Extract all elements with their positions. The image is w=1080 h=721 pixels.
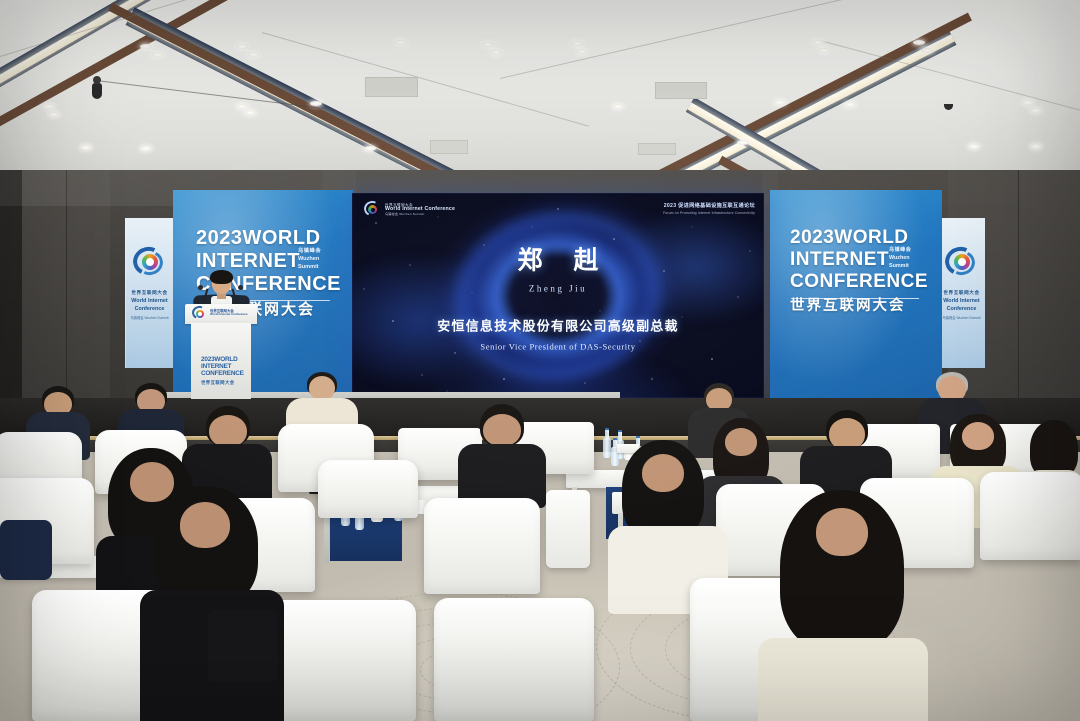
ceiling-air-vent [430, 140, 468, 154]
armchair [434, 598, 594, 721]
podium-cn: 世界互联网大会 [201, 380, 241, 386]
attendee-head [816, 508, 868, 556]
attendee-head [483, 414, 521, 446]
ceiling-downlight [571, 41, 583, 46]
banner-right-line2: INTERNET [790, 250, 928, 269]
ceiling-downlight [43, 104, 55, 109]
ceiling-downlight [395, 40, 407, 45]
podium-logo-en: World Internet Conference [210, 313, 248, 317]
ceiling-downlight [140, 146, 152, 151]
attendee [608, 440, 728, 596]
armchair [424, 498, 540, 594]
ceiling-downlight [576, 49, 588, 54]
podium-logo-text: 世界互联网大会 World Internet Conference [210, 309, 248, 317]
ceiling-downlight [612, 104, 624, 109]
wall-seam [1018, 170, 1019, 420]
speaker-title-en: Senior Vice President of DAS-Security [352, 341, 764, 351]
ceiling-downlight [482, 42, 494, 47]
screen-wic-logo: 世界互联网大会 World Internet Conference 乌镇峰会 W… [364, 201, 455, 218]
banner-right-cn: 世界互联网大会 [790, 299, 928, 315]
ceiling [0, 0, 1080, 196]
podium-line3: CONFERENCE [201, 371, 241, 378]
vertical-banner-right-en2: Conference [938, 306, 985, 313]
microphone-head [198, 285, 203, 290]
wic-logo-icon [364, 201, 381, 218]
ceiling-air-vent [638, 143, 676, 155]
armchair [980, 472, 1080, 560]
ceiling-downlight [737, 140, 749, 145]
screen-logo-cn: 世界互联网大会 [385, 203, 455, 207]
banner-left-line1: 2023WORLD [196, 228, 341, 248]
speaker-name-en: Zheng Jiu [352, 283, 764, 293]
speaker-hair [210, 270, 233, 284]
ceiling-camera [92, 83, 102, 99]
armchair-armrest [546, 490, 590, 568]
ceiling-downlight [236, 104, 248, 109]
podium-branding: 2023WORLD INTERNET CONFERENCE 世界互联网大会 [201, 357, 241, 386]
ceiling-downlight [844, 102, 856, 107]
attendee-head [209, 415, 247, 447]
ceiling-downlight [968, 144, 980, 149]
ceiling-beam-right-inner-brown [469, 12, 972, 196]
ceiling-downlight [152, 52, 164, 57]
attendee [758, 490, 928, 721]
speaker-name-cn: 郑 赳 [352, 240, 764, 276]
ceiling-downlight [364, 146, 376, 151]
vertical-banner-right-en1: World Internet [938, 298, 985, 305]
ceiling-downlight [1030, 108, 1042, 113]
ceiling-downlight [921, 48, 933, 53]
wic-logo-icon [133, 246, 167, 278]
ceiling-light-strip-left-inner [125, 7, 633, 196]
podium-body: 2023WORLD INTERNET CONFERENCE 世界互联网大会 [191, 323, 251, 399]
ceiling-downlight [236, 44, 248, 49]
ceiling-downlight [818, 48, 830, 53]
ceiling-downlight [812, 40, 824, 45]
ceiling-downlight [140, 44, 152, 49]
screen-logo-sub: 乌镇峰会 Wuzhen Summit [385, 213, 455, 216]
ceiling-downlight [80, 145, 92, 150]
ceiling-downlight [913, 40, 925, 45]
attendee-head [725, 428, 757, 456]
vertical-banner-left-cn: 世界互联网大会 [126, 290, 173, 296]
banner-right-line1: 2023WORLD [790, 228, 928, 247]
screen-forum-title-cn: 2023 促进网络基础设施互联互通论坛 [663, 202, 755, 209]
vertical-banner-right-cn: 世界互联网大会 [938, 290, 985, 296]
ceiling-downlight [248, 52, 260, 57]
led-presentation-screen: 世界互联网大会 World Internet Conference 乌镇峰会 W… [352, 193, 764, 398]
ceiling-dome-camera [944, 104, 953, 110]
attendee-torso [758, 638, 928, 721]
backpack [0, 520, 52, 580]
screen-speaker-card: 郑 赳 Zheng Jiu 安恒信息技术股份有限公司高级副总裁 Senior V… [352, 240, 764, 351]
handbag [208, 610, 278, 682]
vertical-banner-left: 世界互联网大会 World Internet Conference 乌镇峰会 W… [125, 218, 173, 368]
banner-right-line3: CONFERENCE [790, 272, 928, 291]
attendee [140, 486, 284, 721]
banner-left-line2: INTERNET [196, 251, 341, 271]
podium: 世界互联网大会 World Internet Conference 2023WO… [185, 304, 257, 399]
speaker-title-cn: 安恒信息技术股份有限公司高级副总裁 [352, 315, 764, 334]
ceiling-downlight [244, 110, 256, 115]
vertical-banner-left-en2: Conference [126, 306, 173, 313]
screen-forum-title-en: Forum on Promoting Internet Infrastructu… [663, 211, 755, 215]
ceiling-downlight [310, 101, 322, 106]
vertical-banner-left-en1: World Internet [126, 298, 173, 305]
ceiling-downlight [490, 50, 502, 55]
wic-logo-icon [192, 306, 207, 321]
ceiling-downlight [1030, 144, 1042, 149]
banner-right: 2023WORLD INTERNET CONFERENCE 世界互联网大会 乌镇… [770, 190, 942, 412]
ceiling-downlight [774, 100, 786, 105]
attendee [458, 404, 546, 500]
banner-right-text: 2023WORLD INTERNET CONFERENCE 世界互联网大会 [790, 228, 928, 315]
vertical-banner-right: 世界互联网大会 World Internet Conference 乌镇峰会 W… [937, 218, 985, 368]
ceiling-air-vent [655, 82, 707, 99]
screen-forum-title: 2023 促进网络基础设施互联互通论坛 Forum on Promoting I… [663, 202, 755, 215]
ceiling-seam [500, 0, 851, 79]
ceiling-air-vent [365, 77, 418, 97]
vertical-banner-right-sub: 乌镇峰会 Wuzhen Summit [938, 316, 985, 320]
podium-top-surface: 世界互联网大会 World Internet Conference [185, 304, 257, 324]
attendee-head [962, 422, 994, 450]
screen-logo-text: 世界互联网大会 World Internet Conference 乌镇峰会 W… [385, 203, 455, 216]
attendee-head [309, 376, 335, 400]
ceiling-downlight [48, 112, 60, 117]
attendee-head [642, 454, 684, 492]
wic-logo-icon [945, 246, 979, 278]
armchair [318, 460, 418, 518]
attendee-head [180, 502, 230, 548]
vertical-banner-left-sub: 乌镇峰会 Wuzhen Summit [126, 316, 173, 320]
ceiling-downlight [1022, 100, 1034, 105]
conference-hall-photo: 世界互联网大会 World Internet Conference 乌镇峰会 W… [0, 0, 1080, 721]
microphone-head [238, 285, 243, 290]
